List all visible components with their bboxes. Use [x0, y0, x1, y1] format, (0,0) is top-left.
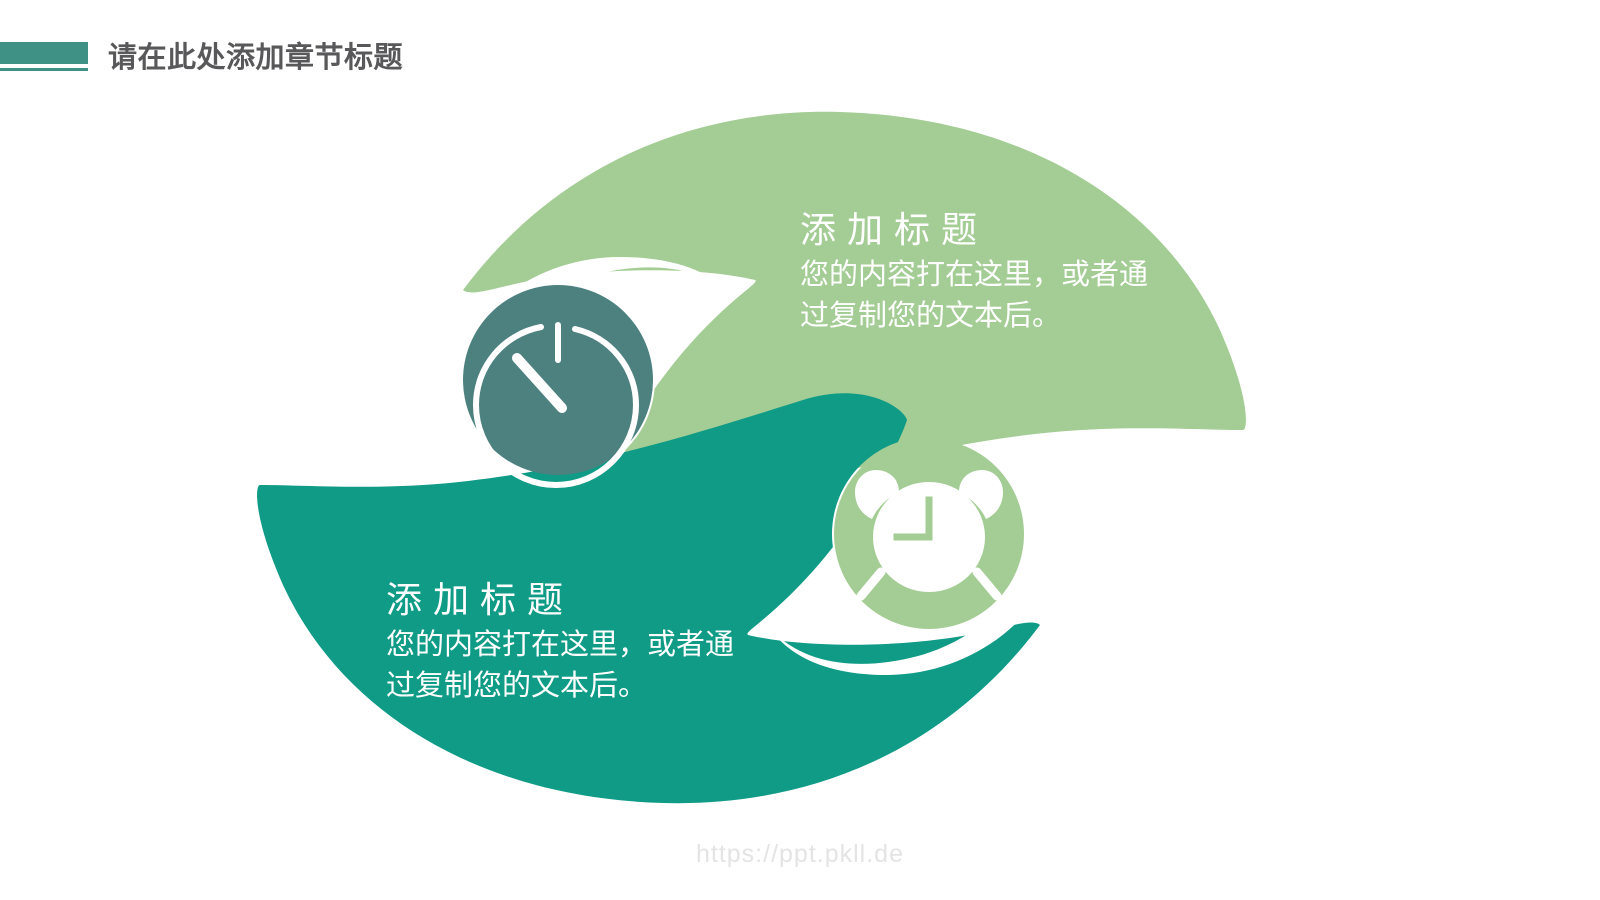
- footer-watermark: https://ppt.pkll.de: [0, 840, 1600, 869]
- block-top-title: 添加标题: [800, 206, 1148, 255]
- slide-canvas: 请在此处添加章节标题: [0, 0, 1600, 900]
- content-block-bottom: 添加标题 您的内容打在这里，或者通 过复制您的文本后。: [386, 576, 734, 707]
- alarm-clock-icon: [855, 470, 1003, 596]
- block-top-body-line1: 您的内容打在这里，或者通: [800, 255, 1148, 296]
- block-bottom-body-line1: 您的内容打在这里，或者通: [386, 625, 734, 666]
- block-bottom-body: 您的内容打在这里，或者通 过复制您的文本后。: [386, 625, 734, 707]
- icon-circle-alarm[interactable]: [834, 439, 1024, 629]
- block-top-body-line2: 过复制您的文本后。: [800, 296, 1148, 337]
- block-bottom-title: 添加标题: [386, 576, 734, 625]
- decorative-artwork: [0, 0, 1600, 900]
- content-block-top: 添加标题 您的内容打在这里，或者通 过复制您的文本后。: [800, 206, 1148, 337]
- block-bottom-body-line2: 过复制您的文本后。: [386, 666, 734, 707]
- block-top-body: 您的内容打在这里，或者通 过复制您的文本后。: [800, 255, 1148, 337]
